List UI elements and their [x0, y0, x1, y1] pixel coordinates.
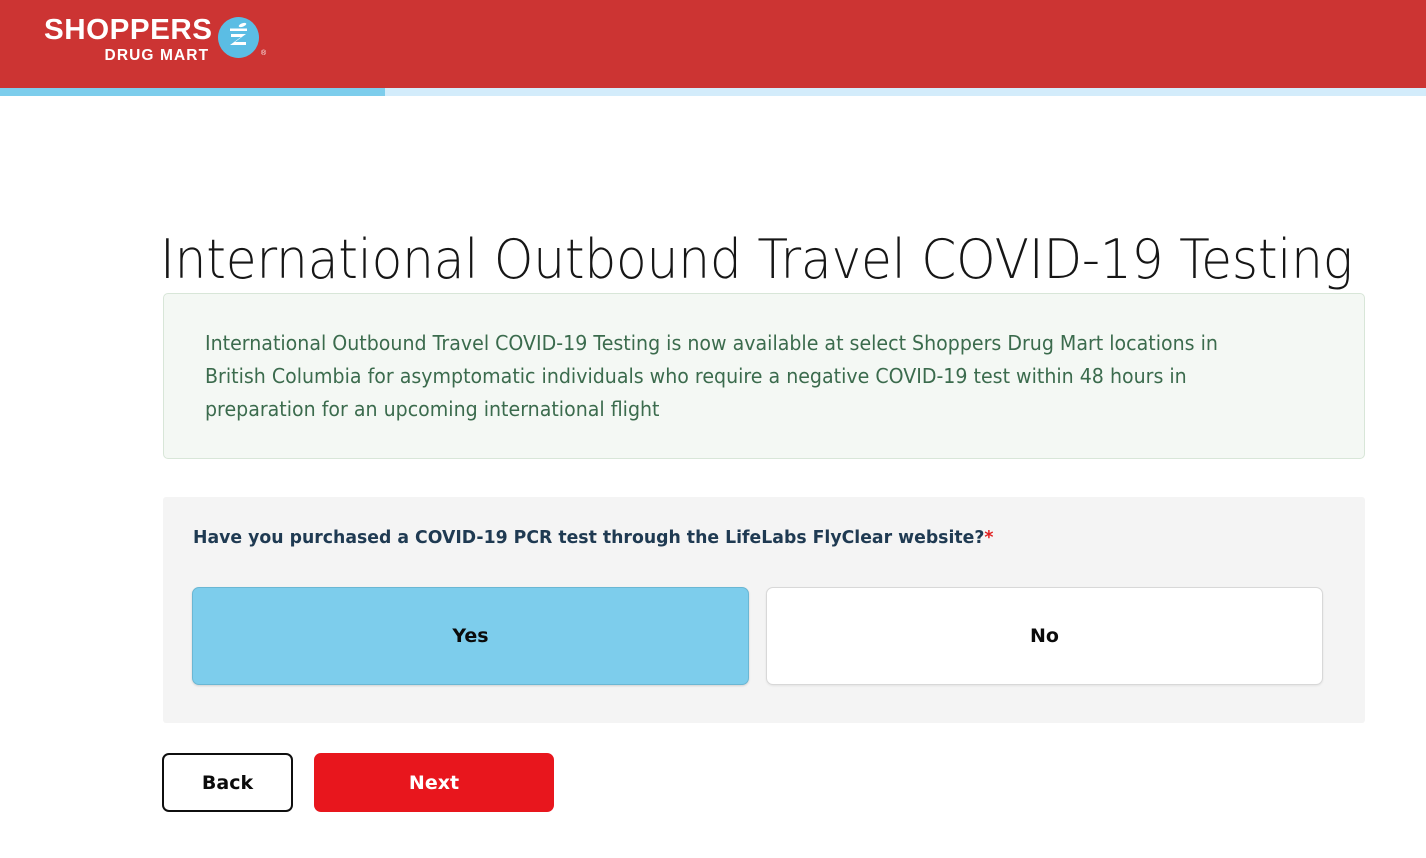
- page-title: International Outbound Travel COVID-19 T…: [160, 228, 1353, 291]
- site-header: SHOPPERS DRUG MART ®: [0, 0, 1426, 88]
- question-label: Have you purchased a COVID-19 PCR test t…: [193, 527, 993, 548]
- next-button[interactable]: Next: [314, 753, 554, 812]
- choice-yes[interactable]: Yes: [192, 587, 749, 685]
- choice-group: Yes No: [192, 587, 1323, 685]
- mortar-pestle-icon: ®: [218, 17, 259, 58]
- question-text: Have you purchased a COVID-19 PCR test t…: [193, 527, 984, 548]
- progress-bar-track: [0, 88, 1426, 96]
- back-button[interactable]: Back: [162, 753, 293, 812]
- progress-bar-fill: [0, 88, 385, 96]
- info-notice-text: International Outbound Travel COVID-19 T…: [205, 327, 1241, 426]
- registered-trademark-icon: ®: [261, 50, 266, 57]
- form-actions: Back Next: [162, 753, 554, 812]
- required-asterisk: *: [984, 527, 993, 548]
- logo-drug-mart-text: DRUG MART: [105, 48, 210, 64]
- logo-wordmark: SHOPPERS DRUG MART: [44, 16, 209, 64]
- shoppers-drug-mart-logo[interactable]: SHOPPERS DRUG MART ®: [44, 16, 259, 64]
- logo-shoppers-text: SHOPPERS: [44, 16, 212, 45]
- choice-no[interactable]: No: [766, 587, 1323, 685]
- question-panel: Have you purchased a COVID-19 PCR test t…: [163, 497, 1365, 723]
- info-notice-box: International Outbound Travel COVID-19 T…: [163, 293, 1365, 459]
